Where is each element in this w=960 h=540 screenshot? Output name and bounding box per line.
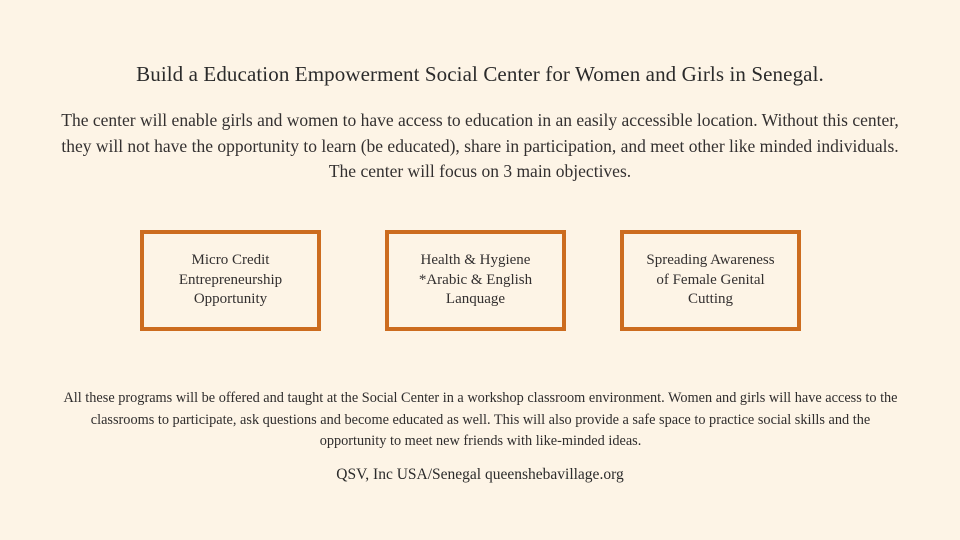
objective-box-awareness: Spreading Awareness of Female Genital Cu… — [620, 230, 801, 331]
intro-paragraph: The center will enable girls and women t… — [58, 108, 902, 185]
page-title: Build a Education Empowerment Social Cen… — [0, 60, 960, 88]
slide-canvas: Build a Education Empowerment Social Cen… — [0, 0, 960, 540]
objective-box-micro-credit: Micro Credit Entrepreneurship Opportunit… — [140, 230, 321, 331]
objective-box-label: Spreading Awareness of Female Genital Cu… — [640, 251, 780, 310]
footer-credit: QSV, Inc USA/Senegal queenshebavillage.o… — [0, 464, 960, 486]
outro-paragraph: All these programs will be offered and t… — [58, 388, 903, 453]
objective-box-label: Health & Hygiene *Arabic & English Lanqu… — [413, 251, 538, 310]
objective-box-label: Micro Credit Entrepreneurship Opportunit… — [173, 251, 288, 310]
objective-box-health-hygiene: Health & Hygiene *Arabic & English Lanqu… — [385, 230, 566, 331]
objectives-row: Micro Credit Entrepreneurship Opportunit… — [0, 230, 960, 331]
